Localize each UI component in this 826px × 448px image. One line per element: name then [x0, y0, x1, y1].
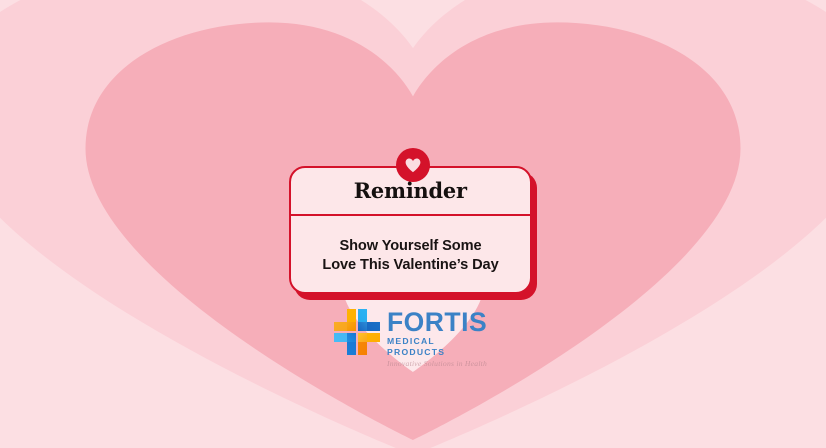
card-message-section: Show Yourself Some Love This Valentine’s… [291, 216, 530, 292]
page-title: Reminder [354, 179, 467, 204]
heart-icon [396, 148, 430, 182]
medical-cross-icon [331, 306, 383, 358]
logo-subtitle: MEDICAL PRODUCTS [387, 336, 491, 358]
message-line-2: Love This Valentine’s Day [322, 256, 498, 275]
message-line-1: Show Yourself Some [339, 237, 481, 256]
reminder-card: Reminder Show Yourself Some Love This Va… [289, 166, 537, 300]
valentines-reminder-graphic: Reminder Show Yourself Some Love This Va… [0, 0, 826, 448]
logo-tagline: Innovative Solutions in Health [387, 359, 491, 369]
fortis-logo: FORTIS MEDICAL PRODUCTS Innovative Solut… [331, 306, 491, 358]
logo-wordmark: FORTIS [387, 309, 491, 335]
